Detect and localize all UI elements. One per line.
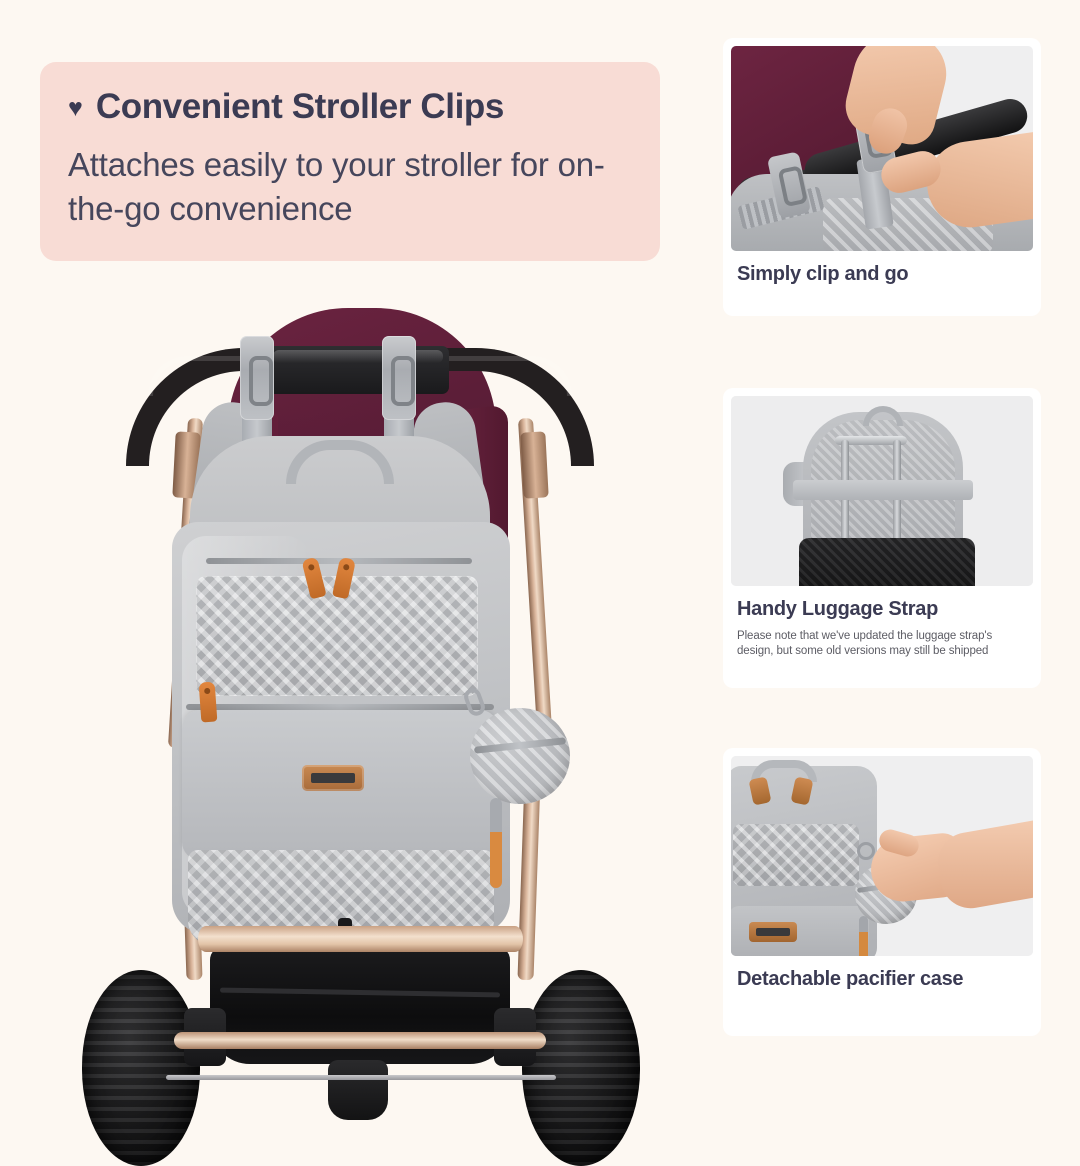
headline-subtitle: Attaches easily to your stroller for on-…: [68, 143, 630, 231]
feature-photo-pacifier-case: [731, 756, 1033, 956]
console-highlight: [273, 350, 443, 363]
feature-card-detachable-pacifier-case: Detachable pacifier case: [723, 748, 1041, 1036]
frame-axle: [174, 1032, 546, 1049]
zipper-pull-side: [199, 681, 218, 722]
stroller-clip-right: [382, 336, 416, 420]
feature-note: Please note that we've updated the lugga…: [731, 622, 1033, 659]
feature-card-column: Simply clip and go Handy Luggage Strap P…: [723, 0, 1041, 1080]
feature-photo-clip-and-go: [731, 46, 1033, 251]
pacifier-case: [470, 708, 570, 804]
axle-rod: [166, 1075, 556, 1080]
axle-center-bracket: [328, 1060, 388, 1120]
left-column: ♥ Convenient Stroller Clips Attaches eas…: [0, 0, 700, 1080]
feature-card-handy-luggage-strap: Handy Luggage Strap Please note that we'…: [723, 388, 1041, 688]
stroller-clip-left: [240, 336, 274, 420]
feature-caption: Handy Luggage Strap: [731, 586, 1033, 622]
heart-icon: ♥: [68, 96, 83, 121]
feature-caption: Detachable pacifier case: [731, 956, 1033, 992]
headline-banner: ♥ Convenient Stroller Clips Attaches eas…: [40, 62, 660, 261]
page-title: Convenient Stroller Clips: [96, 88, 504, 127]
pacifier-case-tassel: [490, 798, 502, 888]
frame-crossbar: [198, 926, 523, 952]
photo3-tassel: [859, 916, 868, 956]
feature-photo-luggage-strap: [731, 396, 1033, 586]
stroller-wheel-left: [82, 970, 200, 1166]
stroller-wheel-right: [522, 970, 640, 1166]
feature-card-simply-clip-and-go: Simply clip and go: [723, 38, 1041, 316]
feature-caption: Simply clip and go: [731, 251, 1033, 287]
headline-row: ♥ Convenient Stroller Clips: [68, 88, 630, 127]
hero-stage: [70, 290, 650, 1080]
photo2-luggage-strap: [793, 480, 973, 500]
photo3-quilted-panel: [733, 824, 859, 886]
backpack-logo-patch: [302, 765, 364, 791]
handlebar-cap-right: [520, 431, 548, 498]
hero-product-photo: [70, 290, 650, 1080]
product-feature-infographic: ♥ Convenient Stroller Clips Attaches eas…: [0, 0, 1080, 1080]
photo2-suitcase: [799, 538, 975, 586]
photo3-logo-patch: [749, 922, 797, 942]
